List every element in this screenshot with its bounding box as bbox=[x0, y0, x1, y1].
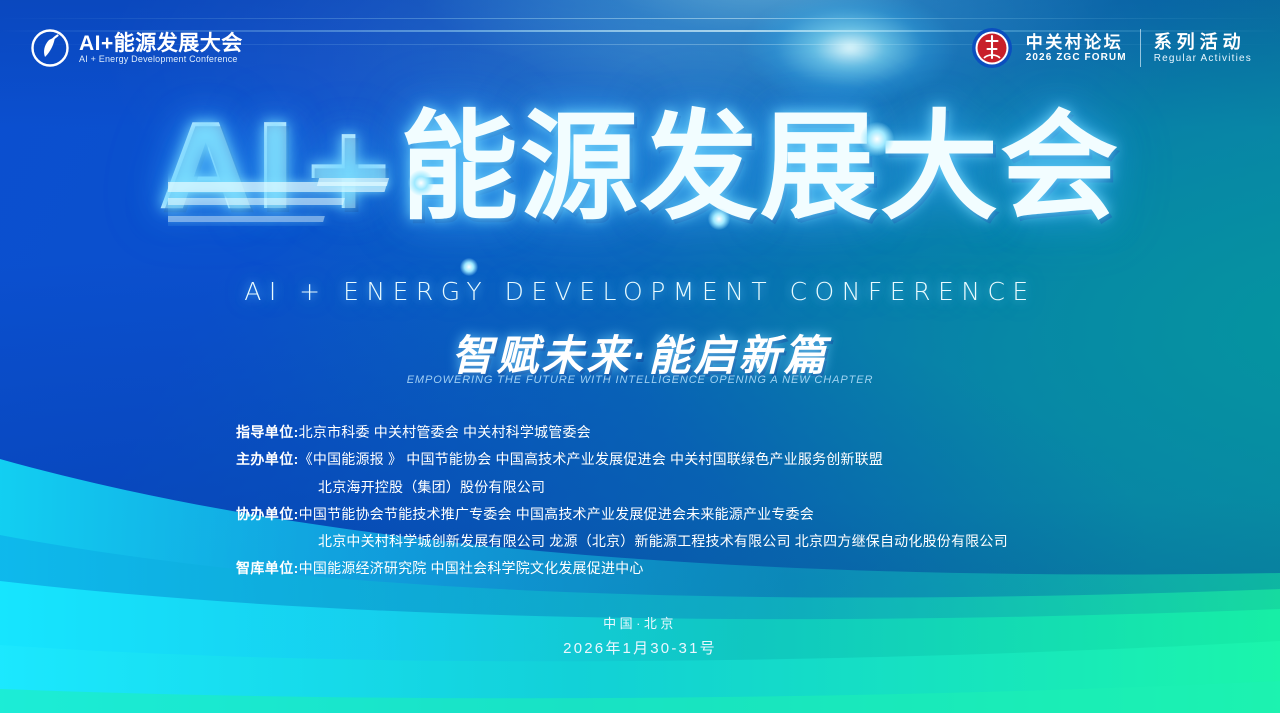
credit-value: 北京海开控股（集团）股份有限公司 bbox=[318, 477, 545, 497]
main-title-ai: AI+ bbox=[160, 98, 400, 236]
conference-logo-en: AI + Energy Development Conference bbox=[79, 55, 243, 64]
conference-logo-cn: AI+能源发展大会 bbox=[79, 33, 243, 54]
main-title-cn: 能源发展大会 bbox=[400, 98, 1120, 236]
credit-label: 协办单位: bbox=[236, 504, 299, 524]
poster-header: AI+能源发展大会 AI + Energy Development Confer… bbox=[0, 0, 1280, 96]
credit-row: 协办单位: 中国节能协会节能技术推广专委会 中国高技术产业发展促进会未来能源产业… bbox=[236, 504, 1116, 524]
credit-value: 《中国能源报 》 中国节能协会 中国高技术产业发展促进会 中关村国联绿色产业服务… bbox=[299, 449, 883, 469]
main-title: AI+能源发展大会 bbox=[160, 108, 1120, 226]
credit-label: 指导单位: bbox=[236, 422, 299, 442]
credit-value: 北京市科委 中关村管委会 中关村科学城管委会 bbox=[299, 422, 591, 442]
credit-row: 智库单位: 中国能源经济研究院 中国社会科学院文化发展促进中心 bbox=[236, 558, 1116, 578]
credit-row: 主办单位: 《中国能源报 》 中国节能协会 中国高技术产业发展促进会 中关村国联… bbox=[236, 449, 1116, 469]
credit-value: 中国节能协会节能技术推广专委会 中国高技术产业发展促进会未来能源产业专委会 bbox=[299, 504, 814, 524]
event-location: 中国·北京 bbox=[0, 612, 1280, 637]
credit-row: 指导单位: 北京市科委 中关村管委会 中关村科学城管委会 bbox=[236, 422, 1116, 442]
series-activities-en: Regular Activities bbox=[1154, 54, 1252, 64]
conference-poster: AI+能源发展大会 AI + Energy Development Confer… bbox=[0, 0, 1280, 713]
credit-value: 中国能源经济研究院 中国社会科学院文化发展促进中心 bbox=[299, 558, 644, 578]
conference-logo: AI+能源发展大会 AI + Energy Development Confer… bbox=[30, 28, 243, 68]
zgc-forum-logo: 中关村论坛 2026 ZGC FORUM 系列活动 Regular Activi… bbox=[971, 27, 1252, 69]
event-date: 2026年1月30-31号 bbox=[0, 637, 1280, 661]
poster-footer: 中国·北京 2026年1月30-31号 bbox=[0, 612, 1280, 661]
logo-divider bbox=[1140, 29, 1141, 67]
credit-row: 北京海开控股（集团）股份有限公司 bbox=[236, 477, 1116, 497]
series-activities-cn: 系列活动 bbox=[1154, 33, 1252, 51]
subtitle-english: AI + ENERGY DEVELOPMENT CONFERENCE bbox=[0, 277, 1280, 306]
credits-block: 指导单位: 北京市科委 中关村管委会 中关村科学城管委会 主办单位: 《中国能源… bbox=[236, 422, 1116, 586]
sparkle-icon bbox=[460, 258, 478, 276]
credit-value: 北京中关村科学城创新发展有限公司 龙源（北京）新能源工程技术有限公司 北京四方继… bbox=[318, 531, 1008, 551]
credit-label: 智库单位: bbox=[236, 558, 299, 578]
zgc-forum-en: 2026 ZGC FORUM bbox=[1026, 53, 1127, 63]
slogan-english: EMPOWERING THE FUTURE WITH INTELLIGENCE … bbox=[0, 374, 1280, 386]
zgc-forum-cn: 中关村论坛 bbox=[1026, 34, 1127, 51]
zgc-forum-badge-icon bbox=[971, 27, 1013, 69]
credit-row: 北京中关村科学城创新发展有限公司 龙源（北京）新能源工程技术有限公司 北京四方继… bbox=[236, 531, 1116, 551]
leaf-energy-icon bbox=[30, 28, 70, 68]
credit-label: 主办单位: bbox=[236, 449, 299, 469]
hero-title-block: AI+能源发展大会 bbox=[0, 108, 1280, 226]
